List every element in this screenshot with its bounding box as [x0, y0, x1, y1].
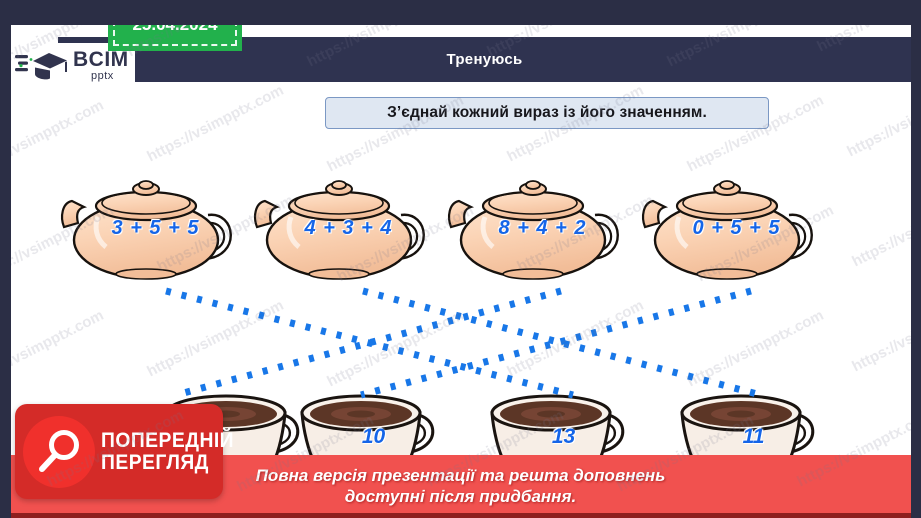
slide-header-title: Тренуюсь: [446, 51, 522, 68]
purchase-banner-line-1: Повна версія презентації та решта доповн…: [256, 466, 666, 487]
instruction-text: З’єднай кожний вираз із його значенням.: [387, 104, 707, 122]
brand-logo-text: BCIM pptx: [73, 49, 129, 82]
teapot-expression-1: 3 + 5 + 5: [58, 217, 253, 240]
connection-line-1: [166, 291, 573, 395]
presentation-slide: Тренуюсь BC: [0, 0, 921, 518]
graduation-cap-icon: [15, 49, 69, 83]
connection-line-2: [363, 291, 761, 395]
cup-value-2: 10: [286, 425, 461, 449]
connection-line-3: [176, 291, 561, 395]
teapot-1[interactable]: 3 + 5 + 5: [58, 165, 253, 280]
connection-line-4: [361, 291, 751, 395]
preview-badge-text: ПОПЕРЕДНІЙ ПЕРЕГЛЯД: [101, 430, 246, 473]
teapot-expression-2: 4 + 3 + 4: [251, 217, 446, 240]
purchase-banner-edge: [0, 513, 921, 518]
preview-badge-line-2: ПЕРЕГЛЯД: [101, 452, 234, 474]
teapot-2[interactable]: 4 + 3 + 4: [251, 165, 446, 280]
cup-value-4: 11: [666, 425, 841, 449]
teapot-expression-3: 8 + 4 + 2: [445, 217, 640, 240]
teapot-4[interactable]: 0 + 5 + 5: [639, 165, 834, 280]
brand-name: BCIM: [73, 49, 129, 70]
instruction-box: З’єднай кожний вираз із його значенням.: [325, 97, 769, 129]
cup-value-3: 13: [476, 425, 651, 449]
slide-frame-left: [0, 0, 11, 518]
slide-frame-top: [0, 0, 921, 25]
preview-badge-line-1: ПОПЕРЕДНІЙ: [101, 430, 234, 452]
teapot-expression-4: 0 + 5 + 5: [639, 217, 834, 240]
preview-badge-circle: [23, 416, 95, 488]
brand-suffix: pptx: [91, 71, 129, 82]
purchase-banner-line-2: доступні після придбання.: [345, 487, 576, 508]
slide-frame-right: [911, 0, 921, 518]
preview-badge[interactable]: ПОПЕРЕДНІЙ ПЕРЕГЛЯД: [15, 404, 223, 499]
teapot-3[interactable]: 8 + 4 + 2: [445, 165, 640, 280]
